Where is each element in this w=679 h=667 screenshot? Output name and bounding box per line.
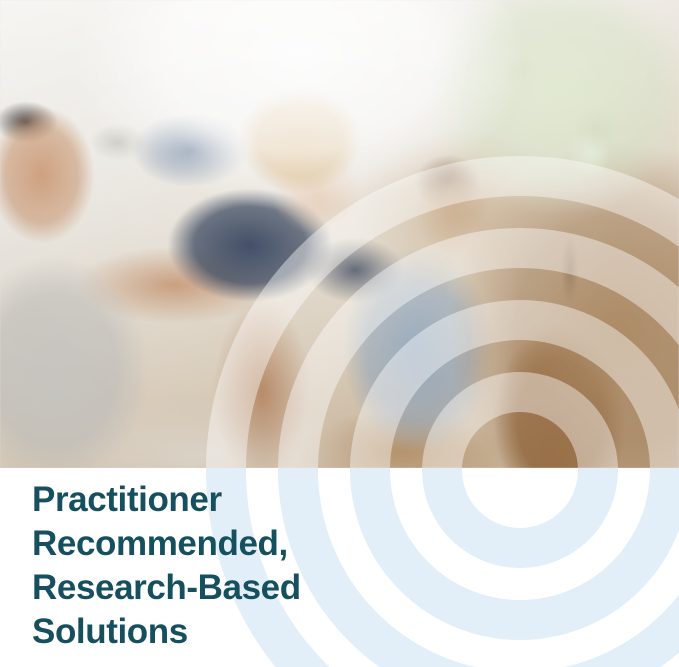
headline-panel: Practitioner Recommended, Research-Based… xyxy=(0,468,679,667)
promotional-hero-card: Practitioner Recommended, Research-Based… xyxy=(0,0,679,667)
family-kitchen-photo xyxy=(0,0,679,468)
page-title: Practitioner Recommended, Research-Based… xyxy=(32,478,462,654)
photo-image xyxy=(0,0,679,468)
